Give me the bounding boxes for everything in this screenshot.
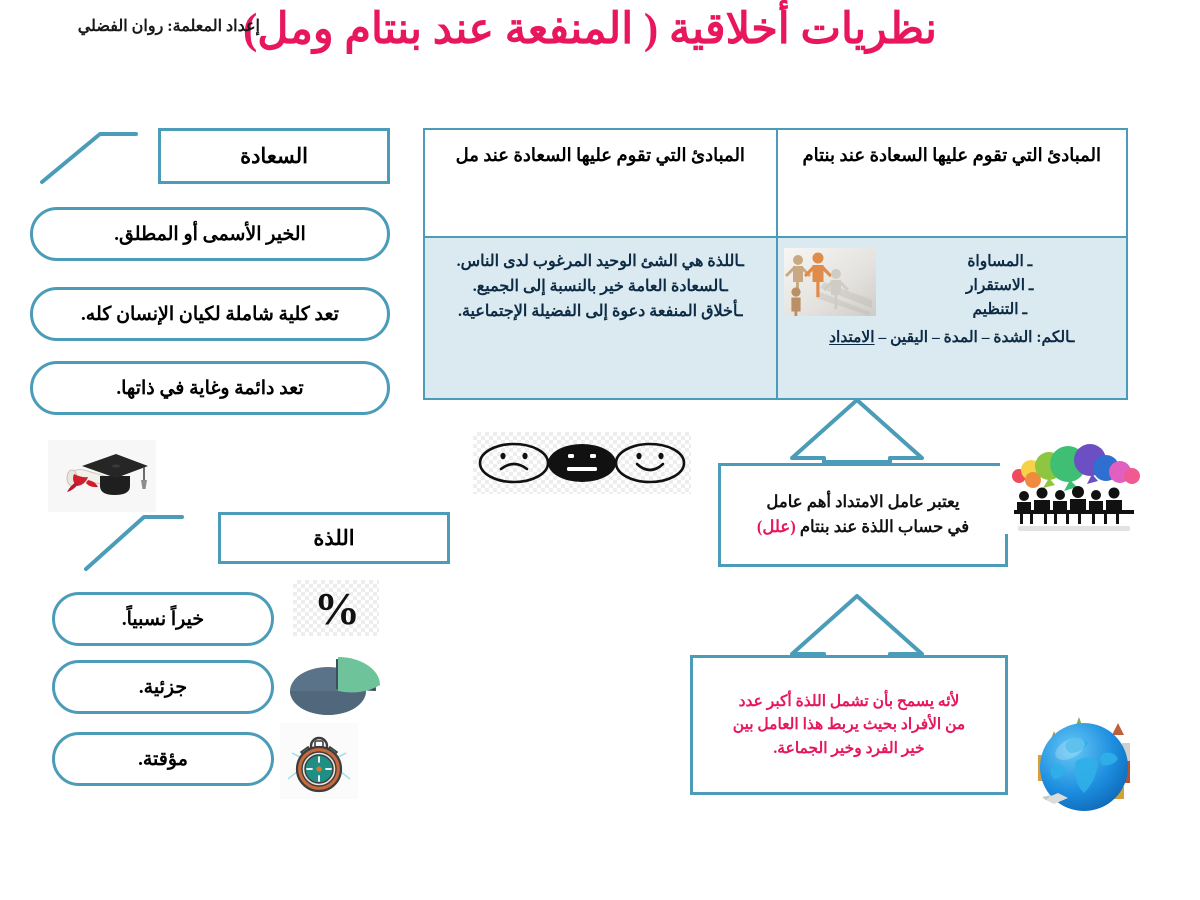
percent-icon: % <box>293 580 379 636</box>
pleasure-item-1-label: خيراً نسبياً. <box>122 608 204 631</box>
reason-callout: لأئه يسمح بأن تشمل اللذة أكبر عدد من الأ… <box>690 655 1008 795</box>
mill-points-list: ـاللذة هي الشئ الوحيد المرغوب لدى الناس.… <box>439 250 762 324</box>
table-header-mill: المبادئ التي تقوم عليها السعادة عند مل <box>425 130 776 238</box>
pleasure-item-3-label: مؤقتة. <box>138 748 188 771</box>
extension-callout-line1: يعتبر عامل الامتداد أهم عامل <box>757 490 969 515</box>
pleasure-title-label: اللذة <box>313 526 354 551</box>
graduation-cap-icon <box>48 440 156 512</box>
pleasure-item-1: خيراً نسبياً. <box>52 592 274 646</box>
pleasure-item-3: مؤقتة. <box>52 732 274 786</box>
table-cell-bentham: ـ المساواة ـ الاستقرار ـ التنظيم ـالكم: … <box>778 238 1127 398</box>
comparison-table: المبادئ التي تقوم عليها السعادة عند بنتا… <box>423 128 1128 400</box>
reason-callout-line1: لأئه يسمح بأن تشمل اللذة أكبر عدد <box>733 690 965 713</box>
extension-callout-highlight: (علل) <box>757 517 796 536</box>
smiley-faces-icon <box>473 432 691 494</box>
pleasure-connector-line <box>82 503 217 575</box>
bentham-point-1: ـ المساواة <box>888 250 1113 274</box>
bentham-point-2: ـ الاستقرار <box>888 274 1113 298</box>
reason-callout-line2: من الأفراد بحيث يربط هذا العامل بين <box>733 713 965 736</box>
happiness-item-1: الخير الأسمى أو المطلق. <box>30 207 390 261</box>
mill-point-2: ـالسعادة العامة خير بالنسبة إلى الجميع. <box>439 275 762 300</box>
table-header-bentham-label: المبادئ التي تقوم عليها السعادة عند بنتا… <box>802 142 1101 168</box>
reason-callout-line3: خير الفرد وخير الجماعة. <box>733 737 965 760</box>
happiness-item-1-label: الخير الأسمى أو المطلق. <box>114 223 306 246</box>
extension-callout-line2-prefix: في حساب اللذة عند بنتام <box>796 517 969 536</box>
table-column-mill: المبادئ التي تقوم عليها السعادة عند مل ـ… <box>425 130 776 398</box>
pleasure-item-2: جزئية. <box>52 660 274 714</box>
mill-point-1: ـاللذة هي الشئ الوحيد المرغوب لدى الناس. <box>439 250 762 275</box>
extension-callout-line2: في حساب اللذة عند بنتام (علل) <box>757 515 969 540</box>
pie-chart-icon <box>280 645 390 723</box>
happiness-title-label: السعادة <box>240 144 308 169</box>
happiness-item-2: تعد كلية شاملة لكيان الإنسان كله. <box>30 287 390 341</box>
arrow-up-to-extension-callout <box>782 592 932 664</box>
happiness-item-2-label: تعد كلية شاملة لكيان الإنسان كله. <box>81 303 339 326</box>
teacher-credit: إعداد المعلمة: روان الفضلي <box>78 16 260 36</box>
extension-callout-text: يعتبر عامل الامتداد أهم عامل في حساب الل… <box>757 490 969 540</box>
table-header-mill-label: المبادئ التي تقوم عليها السعادة عند مل <box>456 142 745 168</box>
happiness-title-box: السعادة <box>158 128 390 184</box>
teamwork-photo <box>784 248 876 316</box>
table-cell-mill: ـاللذة هي الشئ الوحيد المرغوب لدى الناس.… <box>425 238 776 398</box>
pleasure-title-box: اللذة <box>218 512 450 564</box>
stopwatch-icon <box>280 723 358 799</box>
arrow-up-to-table <box>782 396 932 464</box>
bentham-point-3: ـ التنظيم <box>888 298 1113 322</box>
extension-callout: يعتبر عامل الامتداد أهم عامل في حساب الل… <box>718 463 1008 567</box>
bentham-quantity-line: ـالكم: الشدة – المدة – اليقين – الامتداد <box>792 326 1113 350</box>
bentham-quantity-prefix: ـالكم: الشدة – المدة – اليقين – <box>875 329 1075 346</box>
globe-landmarks-icon <box>1018 695 1150 827</box>
bentham-extension-term: الامتداد <box>829 329 874 346</box>
happiness-item-3-label: تعد دائمة وغاية في ذاتها. <box>116 377 303 400</box>
pleasure-item-2-label: جزئية. <box>139 676 187 699</box>
table-header-bentham: المبادئ التي تقوم عليها السعادة عند بنتا… <box>778 130 1127 238</box>
reason-callout-text: لأئه يسمح بأن تشمل اللذة أكبر عدد من الأ… <box>733 690 965 760</box>
happiness-item-3: تعد دائمة وغاية في ذاتها. <box>30 361 390 415</box>
mill-point-3: ـأخلاق المنفعة دعوة إلى الفضيلة الإجتماع… <box>439 300 762 325</box>
happiness-connector-line <box>38 120 168 190</box>
meeting-silhouette-icon <box>1000 440 1148 534</box>
table-column-bentham: المبادئ التي تقوم عليها السعادة عند بنتا… <box>776 130 1127 398</box>
